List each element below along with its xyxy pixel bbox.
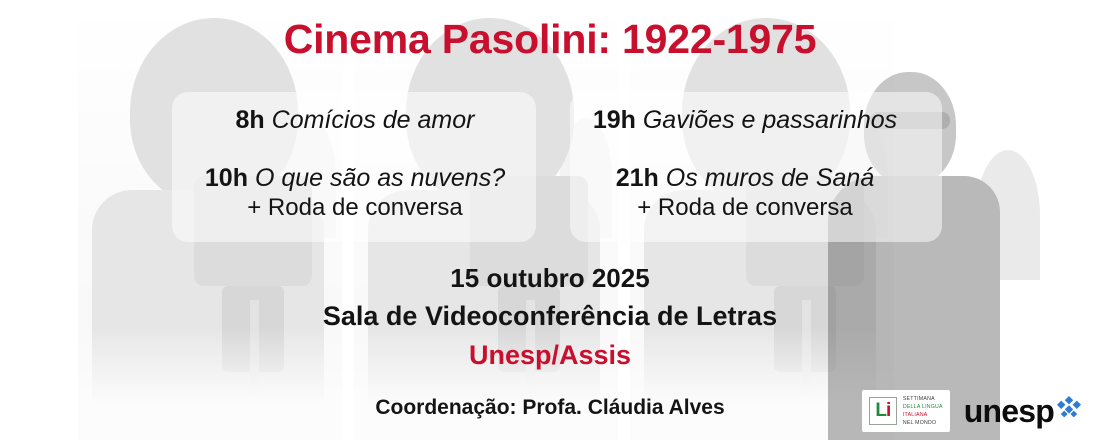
event-poster: Cinema Pasolini: 1922-1975 8h Comícios d… (0, 0, 1100, 440)
li-monogram-icon: Li (869, 397, 897, 425)
session-item: 8h Comícios de amor (160, 106, 550, 136)
settimana-line-1: SETTIMANA (903, 395, 943, 403)
settimana-lingua-italiana-logo: Li SETTIMANA DELLA LINGUA ITALIANA NEL M… (862, 390, 950, 432)
unesp-wordmark: unesp (964, 395, 1054, 427)
session-item: 10h O que são as nuvens? + Roda de conve… (160, 164, 550, 223)
session-time: 21h (616, 164, 659, 192)
session-film-title: Comícios de amor (272, 106, 475, 134)
settimana-logo-text: SETTIMANA DELLA LINGUA ITALIANA NEL MOND… (903, 395, 943, 427)
li-monogram-l: L (875, 401, 886, 420)
program-column-evening: 19h Gaviões e passarinhos 21h Os muros d… (550, 106, 940, 222)
unesp-logo: unesp (964, 395, 1082, 427)
li-monogram-i: i (886, 401, 890, 420)
settimana-line-2: DELLA LINGUA (903, 403, 943, 411)
event-venue: Sala de Videoconferência de Letras (0, 299, 1100, 334)
event-date: 15 outubro 2025 (0, 262, 1100, 295)
session-extra-activity: + Roda de conversa (160, 194, 550, 222)
event-campus: Unesp/Assis (0, 338, 1100, 373)
session-film-title: Os muros de Saná (666, 164, 874, 192)
session-time: 8h (236, 106, 265, 134)
program-column-morning: 8h Comícios de amor 10h O que são as nuv… (160, 106, 550, 222)
logo-strip: Li SETTIMANA DELLA LINGUA ITALIANA NEL M… (862, 390, 1082, 432)
program-schedule: 8h Comícios de amor 10h O que são as nuv… (0, 106, 1100, 222)
session-time: 19h (593, 106, 636, 134)
event-details: 15 outubro 2025 Sala de Videoconferência… (0, 262, 1100, 373)
poster-title: Cinema Pasolini: 1922-1975 (0, 16, 1100, 63)
session-item: 21h Os muros de Saná + Roda de conversa (550, 164, 940, 223)
session-extra-activity: + Roda de conversa (550, 194, 940, 222)
session-item: 19h Gaviões e passarinhos (550, 106, 940, 136)
unesp-diamond-icon (1056, 396, 1082, 423)
session-time: 10h (205, 164, 248, 192)
settimana-line-4: NEL MONDO (903, 419, 943, 427)
session-film-title: Gaviões e passarinhos (643, 106, 897, 134)
settimana-line-3: ITALIANA (903, 411, 943, 419)
session-film-title: O que são as nuvens? (255, 164, 505, 192)
